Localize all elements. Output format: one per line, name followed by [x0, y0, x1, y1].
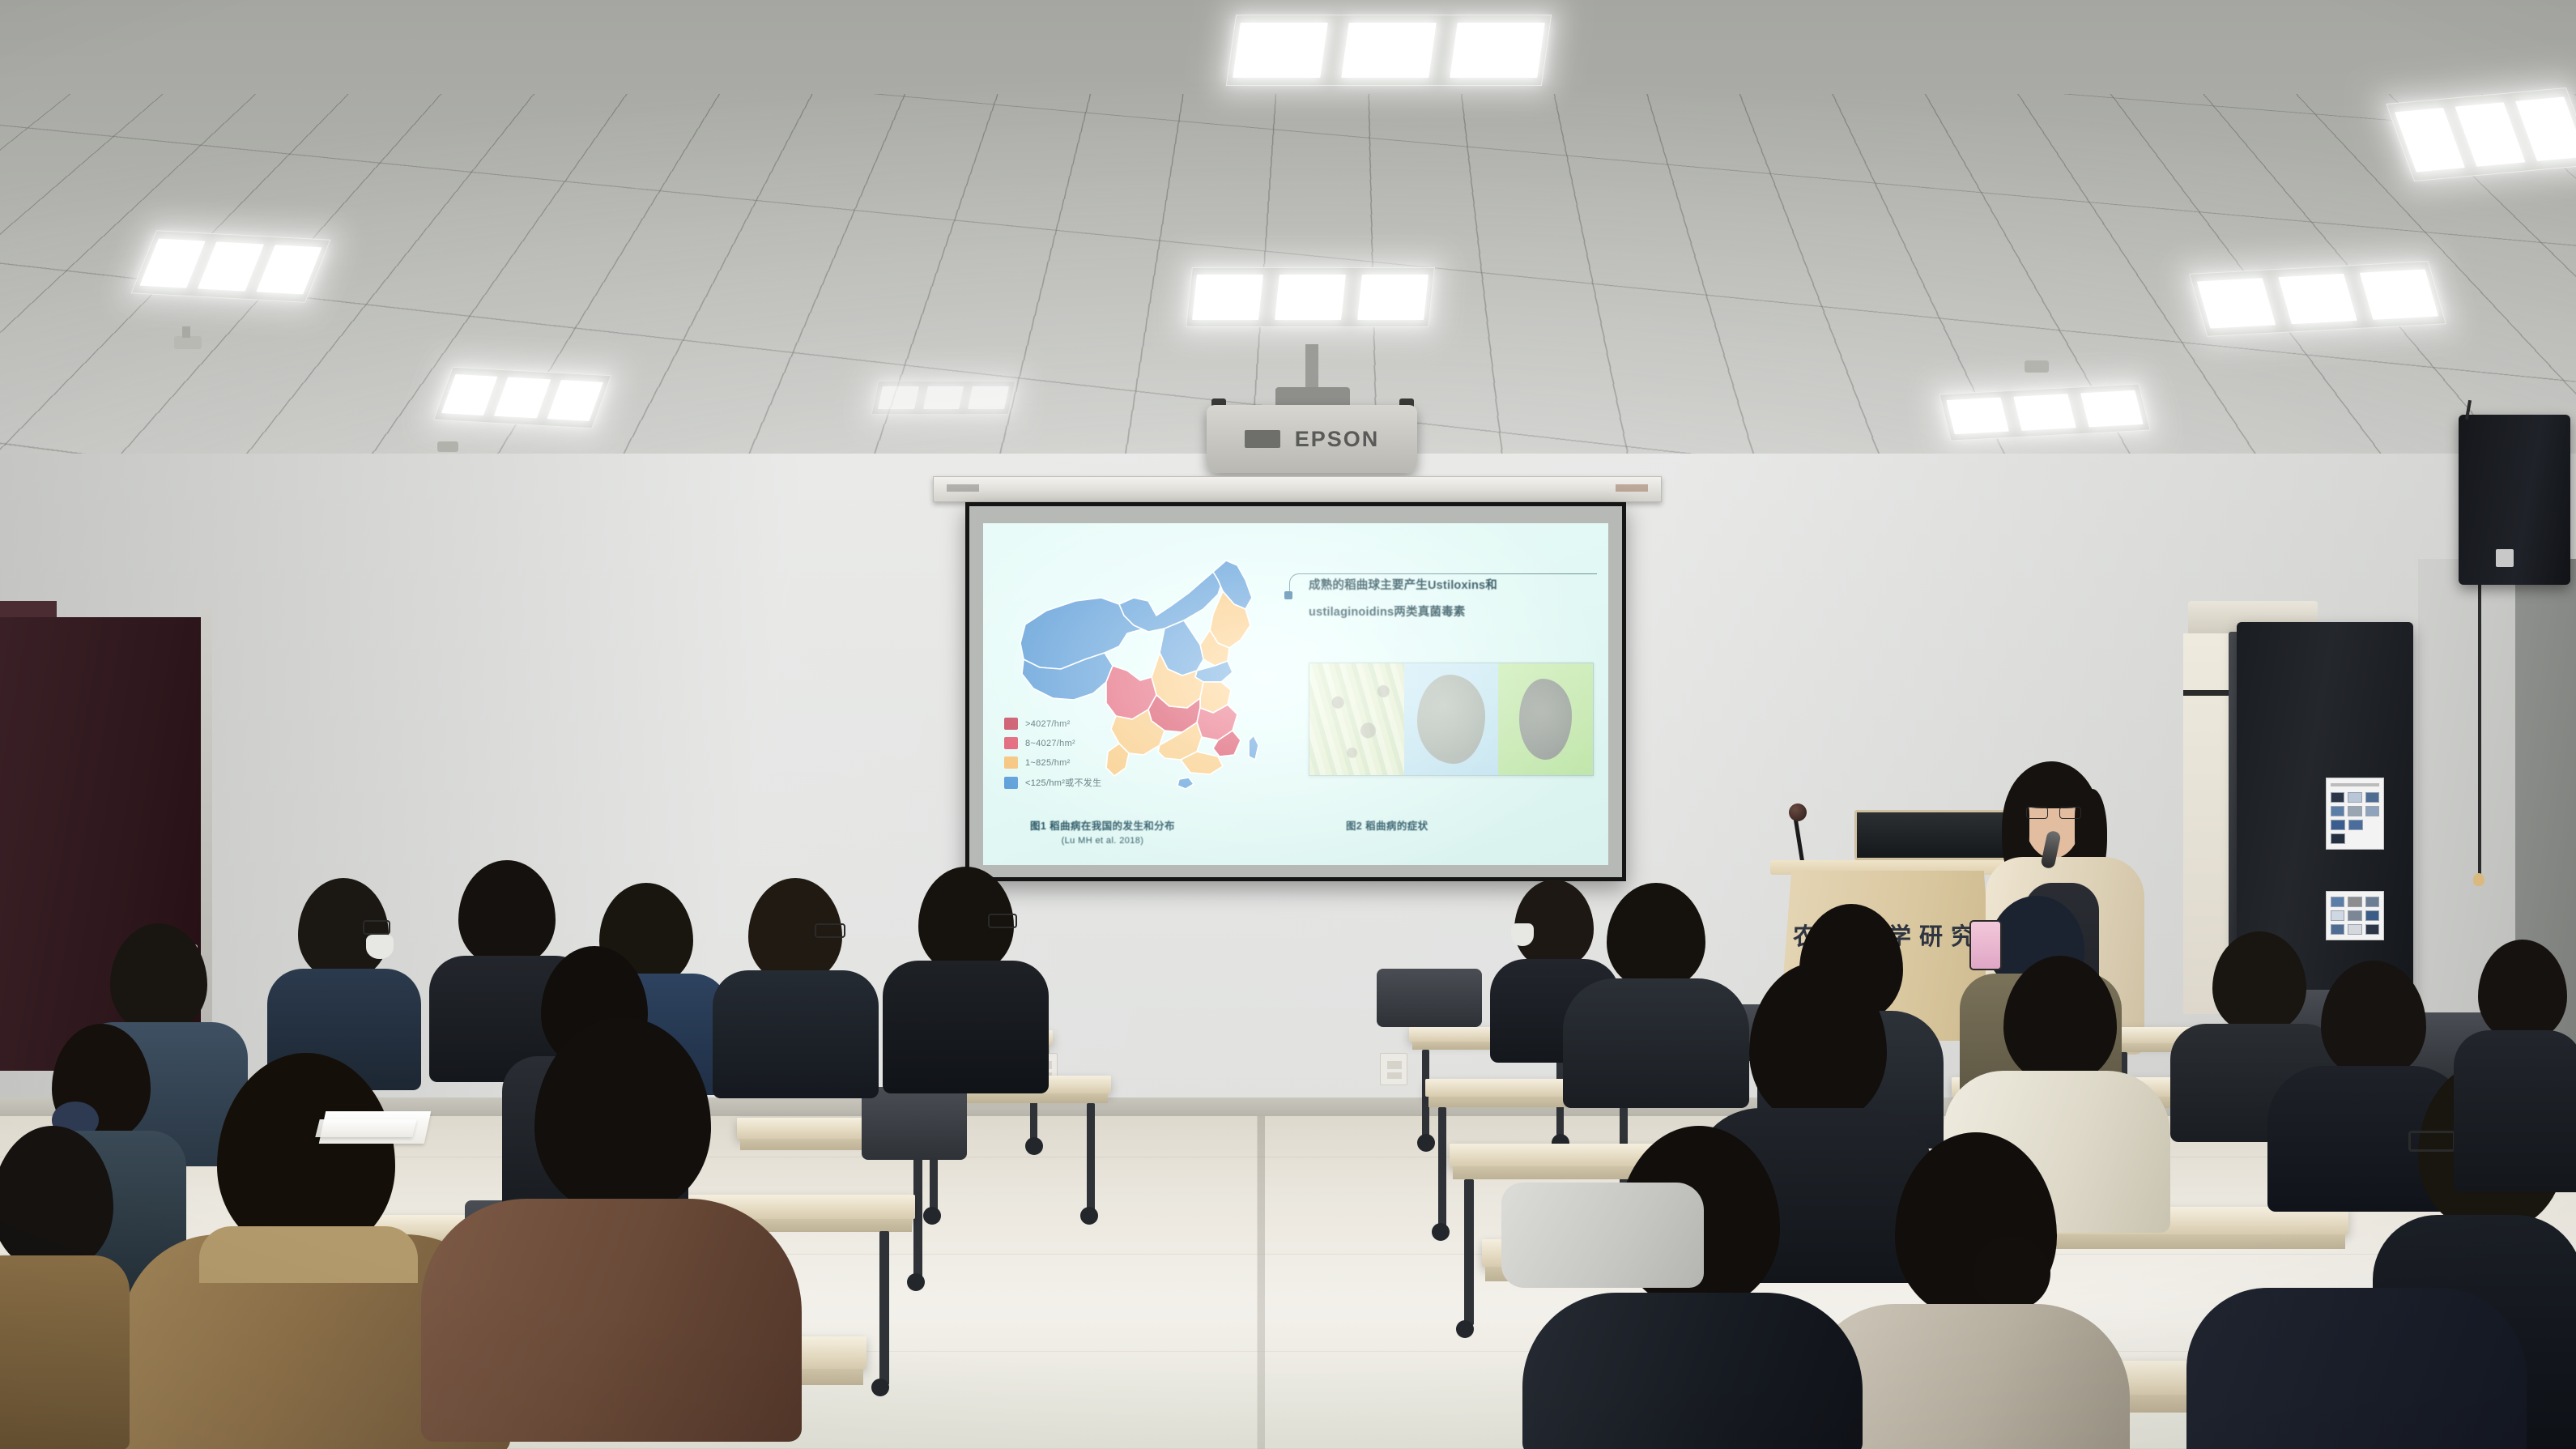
desk-leg: [879, 1231, 889, 1385]
desk-leg: [1087, 1103, 1095, 1212]
person-collar: [199, 1226, 418, 1283]
glasses-icon: [363, 920, 390, 935]
figure1-caption-text: 图1 稻曲病在我国的发生和分布: [1030, 820, 1175, 832]
ceiling-light-fixture: [2189, 261, 2446, 337]
ceiling-light-fixture: [433, 367, 611, 428]
desk-caster-icon: [907, 1273, 925, 1291]
wall-loudspeaker: [2459, 415, 2570, 585]
microphone-icon: [1789, 803, 1807, 821]
notebook-page[interactable]: [315, 1119, 416, 1137]
notice-thumb-icon: [2365, 792, 2379, 803]
classroom-scene: EPSON: [0, 0, 2576, 1449]
desk-caster-icon: [1456, 1320, 1474, 1338]
person-torso: [0, 1255, 130, 1449]
ceiling-light-fixture: [131, 230, 331, 303]
projector-brand-label: EPSON: [1295, 427, 1380, 452]
legend-item: 8~4027/hm²: [1004, 737, 1101, 749]
smoke-detector-icon: [174, 336, 202, 349]
audience-member: [883, 867, 1049, 1093]
notice-thumb-icon: [2348, 792, 2361, 803]
hanging-rod: [2478, 567, 2481, 883]
notice-thumb-icon: [2348, 924, 2361, 935]
legend-item: <125/hm²或不发生: [1004, 776, 1101, 789]
person-torso: [421, 1199, 802, 1442]
legend-label: <125/hm²或不发生: [1025, 776, 1101, 789]
projection-screen[interactable]: >4027/hm² 8~4027/hm² 1~825/hm² <125/hm²或…: [965, 502, 1626, 881]
legend-swatch: [1004, 777, 1018, 789]
notice-thumb-icon: [2331, 806, 2344, 816]
figure1-caption: 图1 稻曲病在我国的发生和分布 (Lu MH et al. 2018): [1030, 817, 1175, 846]
glasses-icon: [2408, 1131, 2455, 1152]
notice-icon-row: [2331, 792, 2379, 803]
notice-icon-row: [2331, 897, 2379, 907]
notice-icon-row: [2331, 833, 2379, 844]
projected-slide: >4027/hm² 8~4027/hm² 1~825/hm² <125/hm²或…: [983, 523, 1608, 865]
face-mask: [1511, 923, 1534, 946]
legend-swatch: [1004, 756, 1018, 769]
notice-icon-row: [2331, 806, 2379, 816]
notice-icon-row: [2331, 910, 2379, 921]
callout-line-1: 成熟的稻曲球主要产生Ustiloxins和: [1309, 575, 1597, 597]
notice-thumb-icon: [2331, 820, 2345, 830]
person-head: [2003, 956, 2117, 1084]
notice-header-bar: [2331, 783, 2379, 786]
legend-item: >4027/hm²: [1004, 718, 1101, 730]
projector: EPSON: [1207, 405, 1417, 473]
housing-label-left: [947, 484, 979, 492]
person-torso: [2454, 1030, 2576, 1192]
smoke-detector-icon: [437, 441, 458, 452]
ceiling-light-fixture: [1226, 15, 1552, 86]
desk-caster-icon: [1432, 1223, 1450, 1241]
person-torso: [883, 961, 1049, 1093]
water-bottle[interactable]: [1994, 1131, 2016, 1195]
notice-thumb-icon: [2365, 924, 2379, 935]
chair-back: [1377, 969, 1482, 1027]
notice-icon-row: [2331, 820, 2379, 830]
person-head: [1607, 883, 1705, 990]
wall-power-outlet[interactable]: [1380, 1053, 1407, 1085]
person-head: [534, 1017, 711, 1215]
desk-leg: [1464, 1179, 1474, 1325]
notice-thumb-icon: [2331, 910, 2344, 921]
audience-member: [2454, 940, 2576, 1183]
hair-bun: [1973, 1236, 2050, 1310]
legend-label: >4027/hm²: [1025, 719, 1071, 729]
photo-strip-washout: [1309, 663, 1593, 775]
desk-caster-icon: [1417, 1134, 1435, 1152]
water-bottle[interactable]: [771, 1059, 798, 1134]
chair-back: [862, 1087, 967, 1160]
ceiling-light-fixture: [2386, 87, 2576, 181]
callout-anchor-dot-icon: [1284, 591, 1292, 599]
callout-line-2: ustilaginoidins两类真菌毒素: [1309, 602, 1597, 624]
notice-thumb-icon: [2331, 833, 2345, 844]
notice-thumb-icon: [2331, 792, 2344, 803]
water-bottle[interactable]: [1597, 1053, 1624, 1127]
smoke-detector-icon: [2025, 360, 2049, 373]
slide-callout: 成熟的稻曲球主要产生Ustiloxins和 ustilaginoidins两类真…: [1309, 562, 1597, 624]
face-mask: [366, 935, 394, 959]
symptom-photo-strip: [1309, 663, 1594, 776]
cabinet-handle-icon[interactable]: [2183, 690, 2235, 696]
desk-caster-icon: [1080, 1207, 1098, 1225]
notice-thumb-icon: [2365, 897, 2379, 907]
legend-swatch: [1004, 737, 1018, 749]
desk-caster-icon: [923, 1207, 941, 1225]
glasses-icon: [815, 923, 845, 938]
projection-screen-housing[interactable]: [933, 476, 1662, 502]
projector-ceiling-pole: [1305, 344, 1318, 393]
notice-thumb-icon: [2348, 910, 2361, 921]
audience-member: [2186, 1264, 2527, 1449]
person-head: [2478, 940, 2567, 1042]
speaker-logo-icon: [2496, 549, 2514, 567]
ceiling-light-fixture: [1186, 267, 1435, 327]
notice-thumb-icon: [2365, 910, 2379, 921]
figure2-caption: 图2 稻曲病的症状: [1346, 817, 1429, 833]
posted-notice-sheet: [2326, 778, 2384, 850]
person-head: [0, 1126, 113, 1272]
legend-label: 1~825/hm²: [1025, 758, 1071, 768]
notice-thumb-icon: [2348, 897, 2361, 907]
person-head: [217, 1053, 395, 1255]
projector-lens-cover-icon: [1245, 430, 1280, 448]
figure2-caption-text: 图2 稻曲病的症状: [1346, 820, 1429, 832]
glasses-icon: [988, 914, 1017, 928]
notice-thumb-icon: [2348, 806, 2361, 816]
ceiling-light-fixture: [871, 381, 1016, 415]
housing-label-right: [1616, 484, 1648, 492]
notice-thumb-icon: [2331, 897, 2344, 907]
figure1-source-text: (Lu MH et al. 2018): [1030, 836, 1175, 846]
person-head: [1749, 962, 1887, 1124]
desk-caster-icon: [1025, 1137, 1043, 1155]
audience-member: [0, 1126, 130, 1449]
desk-leg: [1438, 1107, 1446, 1229]
presenter-glasses-icon: [2026, 807, 2081, 819]
person-head: [110, 923, 207, 1033]
notice-thumb-icon: [2348, 820, 2363, 830]
legend-item: 1~825/hm²: [1004, 756, 1101, 769]
desk-caster-icon: [871, 1379, 889, 1396]
legend-label: 8~4027/hm²: [1025, 739, 1075, 748]
audience-member: [421, 1017, 802, 1438]
person-torso: [1522, 1293, 1863, 1449]
legend-swatch: [1004, 718, 1018, 730]
person-torso: [2186, 1288, 2527, 1449]
notice-thumb-icon: [2365, 806, 2379, 816]
map-legend: >4027/hm² 8~4027/hm² 1~825/hm² <125/hm²或…: [1004, 718, 1101, 796]
folded-coat-on-desk: [1501, 1183, 1704, 1288]
